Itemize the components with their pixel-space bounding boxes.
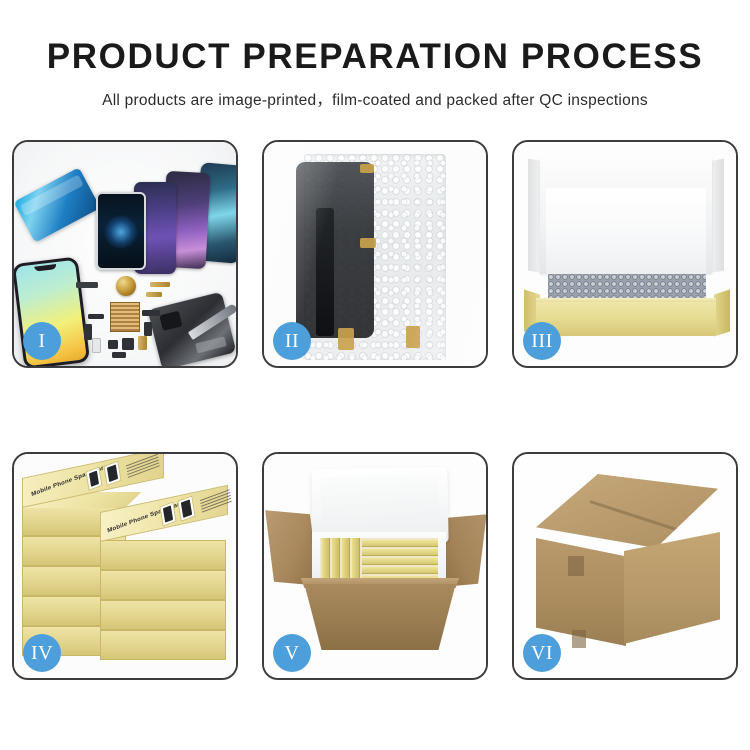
step-badge: V — [273, 634, 311, 672]
carton-tab — [568, 556, 584, 576]
box-window — [103, 460, 121, 486]
inner-yellow-box — [362, 567, 438, 574]
stacked-box — [100, 630, 226, 660]
step-panel-phone-parts: I — [12, 140, 238, 368]
step-panel-inner-box: III — [512, 140, 738, 368]
carton-flap-left — [265, 510, 319, 585]
small-part — [150, 282, 170, 287]
carton-top-face — [536, 474, 718, 548]
foam-box-interior — [320, 538, 438, 584]
inner-yellow-box — [362, 558, 438, 565]
carton-tab — [572, 630, 586, 648]
step-panel-sealed-carton: VI — [512, 452, 738, 680]
inner-yellow-box — [362, 549, 438, 556]
page-title: PRODUCT PREPARATION PROCESS — [0, 38, 750, 77]
small-part — [76, 282, 98, 288]
step-badge: III — [523, 322, 561, 360]
small-part — [108, 340, 118, 349]
small-part — [122, 338, 134, 350]
small-part — [138, 336, 147, 350]
photo-sealed-carton: VI — [514, 454, 736, 678]
step-badge: IV — [23, 634, 61, 672]
inner-yellow-box — [362, 540, 438, 547]
photo-phone-parts: I — [14, 142, 236, 366]
photo-foam-carton: V — [264, 454, 486, 678]
kraft-box-front — [536, 302, 716, 336]
page-subtitle: All products are image-printed，film-coat… — [0, 88, 750, 110]
chip-grid-part — [110, 302, 140, 332]
step-panel-foam-carton: V — [262, 452, 488, 680]
carton-seam — [590, 500, 713, 542]
blue-lcd-part — [14, 167, 100, 242]
step-panel-boxes-stacked: Mobile Phone Spare Parts Mobile — [12, 452, 238, 680]
photo-boxes-stacked: Mobile Phone Spare Parts Mobile — [14, 454, 236, 678]
photo-inner-box: III — [514, 142, 736, 366]
small-part — [88, 314, 104, 319]
inner-yellow-box — [342, 538, 350, 584]
step-panel-bubble-wrap: II — [262, 140, 488, 368]
box-window — [177, 495, 195, 521]
process-steps-grid: I II — [12, 140, 738, 680]
product-preparation-infographic: PRODUCT PREPARATION PROCESS All products… — [0, 0, 750, 750]
inner-yellow-box — [322, 538, 330, 584]
step-badge: II — [273, 322, 311, 360]
inner-yellow-box — [352, 538, 360, 584]
box-window — [159, 501, 176, 526]
inner-yellow-box — [332, 538, 340, 584]
small-part — [112, 352, 126, 358]
box-right-side — [714, 289, 730, 336]
photo-bubble-wrap: II — [264, 142, 486, 366]
stacked-box — [100, 540, 226, 570]
small-part — [92, 338, 101, 353]
speaker-coil-part — [116, 276, 136, 296]
carton-front-panel — [294, 584, 466, 650]
step-badge: VI — [523, 634, 561, 672]
box-window — [86, 467, 103, 491]
screen-glass-front — [96, 192, 146, 270]
carton-right-face — [624, 532, 720, 644]
small-part — [146, 292, 162, 297]
step-badge: I — [23, 322, 61, 360]
stacked-box — [100, 570, 226, 600]
box-spec-lines — [126, 454, 160, 480]
small-part — [142, 310, 160, 316]
foam-sheet — [546, 188, 706, 276]
small-part — [84, 324, 92, 340]
small-part — [144, 322, 152, 336]
box-spec-lines — [200, 489, 232, 514]
stacked-box — [100, 600, 226, 630]
